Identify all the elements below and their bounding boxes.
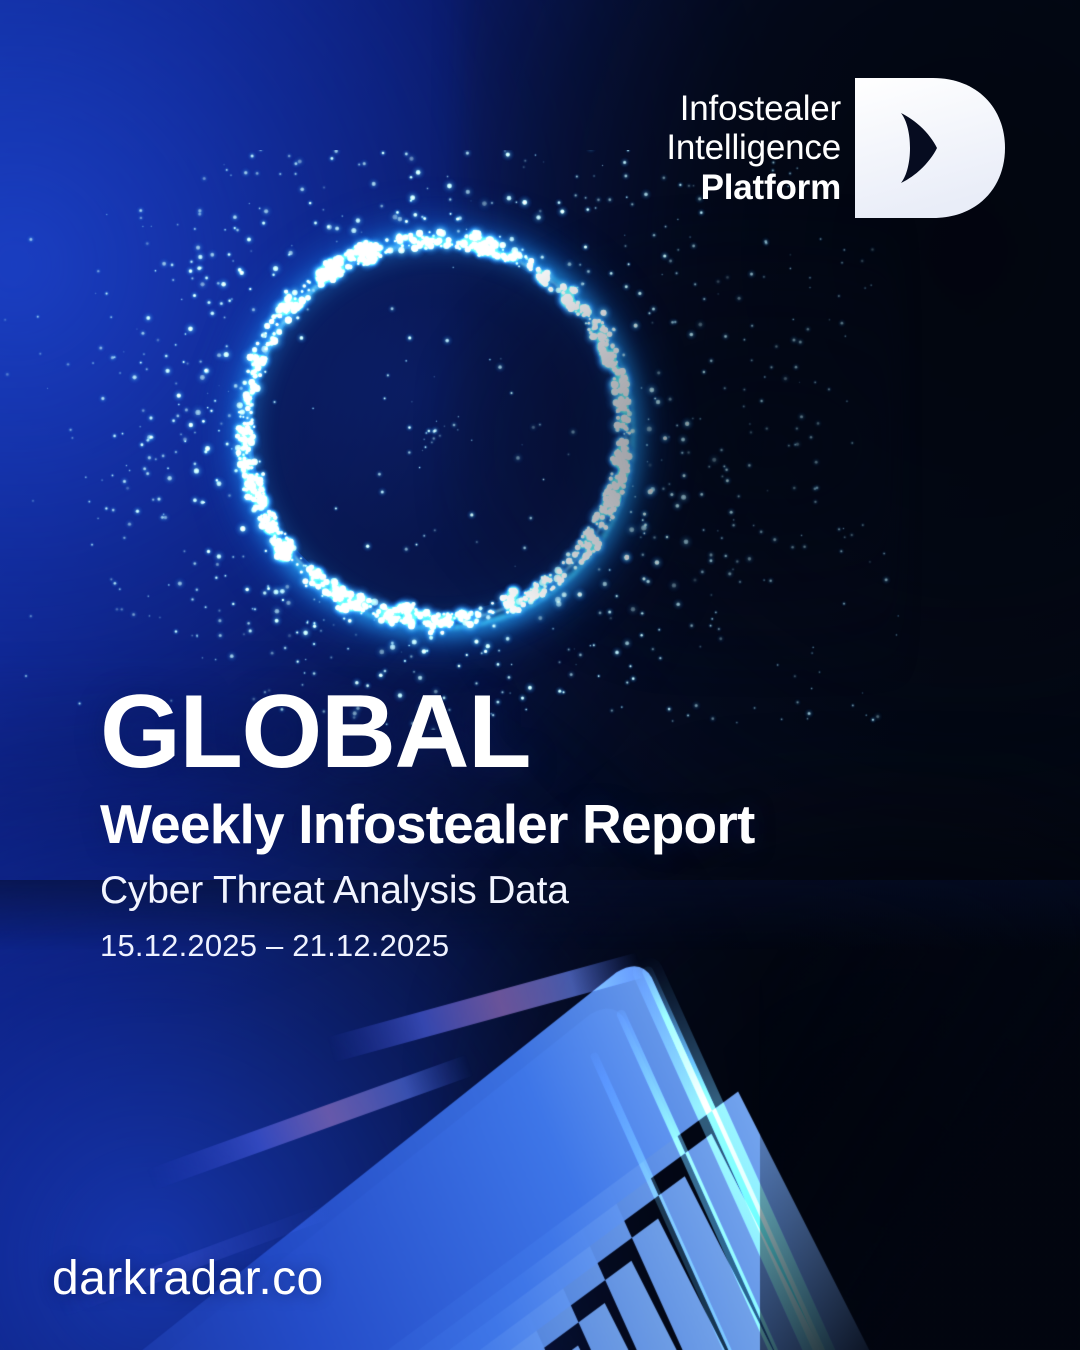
brand-logo: Infostealer Intelligence Platform (666, 78, 1005, 218)
poster-root: Infostealer Intelligence Platform GLOBAL… (0, 0, 1080, 1350)
brand-logo-line3: Platform (666, 168, 841, 207)
brand-logo-line1: Infostealer (666, 89, 841, 128)
darkradar-d-arrow-icon (855, 78, 1005, 218)
brand-logo-line2: Intelligence (666, 128, 841, 167)
footer-website: darkradar.co (52, 1251, 324, 1306)
report-description: Cyber Threat Analysis Data (100, 870, 860, 913)
page-title: GLOBAL (100, 680, 860, 784)
ring-right-shadow (430, 210, 900, 680)
report-subtitle: Weekly Infostealer Report (100, 796, 860, 854)
report-date-range: 15.12.2025 – 21.12.2025 (100, 929, 860, 963)
headline-block: GLOBAL Weekly Infostealer Report Cyber T… (100, 680, 860, 963)
brand-logo-text: Infostealer Intelligence Platform (666, 89, 841, 207)
glowing-particle-ring (0, 150, 900, 730)
